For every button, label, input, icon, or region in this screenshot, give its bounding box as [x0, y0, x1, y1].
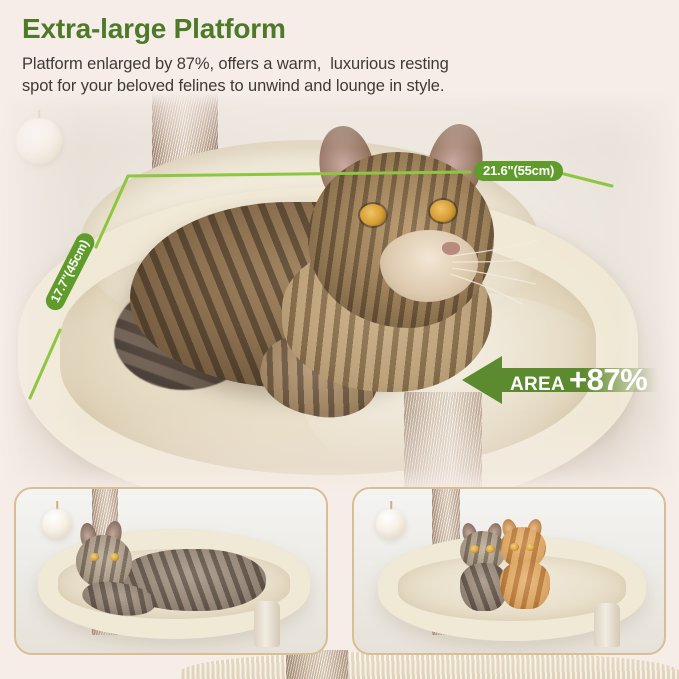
page-subtitle: Platform enlarged by 87%, offers a warm,… [22, 53, 662, 98]
area-badge-percent: +87% [569, 362, 647, 398]
cat-nose [442, 242, 460, 255]
thumb-kitten-eye-right [486, 545, 495, 553]
hero-product-photo [0, 92, 679, 492]
thumbnail-row [0, 487, 679, 679]
thumb-kitten-orange [498, 519, 562, 609]
thumb-kitten-eye-left [510, 543, 519, 551]
area-badge-word: AREA [510, 374, 565, 396]
pompom-ball [16, 118, 62, 164]
product-feature-image: Extra-large Platform Platform enlarged b… [0, 0, 679, 679]
width-dimension-label: 21.6"(55cm) [474, 161, 563, 181]
thumb-cat-eye-right [110, 553, 119, 561]
thumb-pompom-ball [376, 509, 406, 539]
thumb-kitten-eye-right [526, 543, 535, 551]
area-badge-label: AREA +87% [510, 362, 647, 398]
thumb-pompom-icon [376, 501, 406, 537]
area-increase-badge: AREA +87% [462, 354, 658, 406]
thumbnail-maine-coon[interactable] [14, 487, 328, 655]
pompom-ball-icon [16, 110, 62, 166]
thumbnail-two-kittens[interactable] [352, 487, 666, 655]
thumb-cat [72, 521, 272, 633]
thumb-kitten-eye-left [470, 545, 479, 553]
thumb-support-leg [594, 603, 620, 647]
cat-eye-left [360, 204, 386, 226]
thumb-kitten-body [500, 561, 550, 609]
header-block: Extra-large Platform Platform enlarged b… [22, 14, 662, 97]
thumb-pompom-ball [42, 509, 72, 539]
thumb-cat-eye-left [90, 553, 99, 561]
thumb-pompom-icon [42, 501, 72, 537]
page-title: Extra-large Platform [22, 14, 662, 45]
cat-eye-right [430, 200, 456, 222]
